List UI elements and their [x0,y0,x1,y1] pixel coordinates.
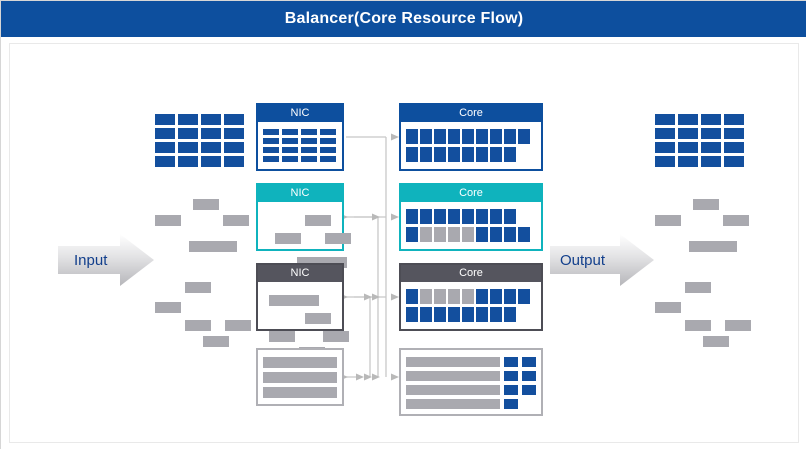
data-block [723,215,749,226]
core-block [406,307,418,322]
data-block [724,156,744,167]
core-block [476,289,488,304]
nic-box-content-1 [263,129,337,163]
output-label: Output [550,234,664,286]
core-block [504,289,516,304]
diagram-page: Balancer(Core Resource Flow) [0,0,806,449]
data-block [178,114,198,125]
core-block [522,371,536,381]
data-block [201,156,221,167]
data-block [724,128,744,139]
data-block [320,129,336,135]
core-block [490,147,502,162]
data-block [724,114,744,125]
nic-box-body-4 [258,354,342,402]
data-block [320,156,336,162]
output-arrow: Output [550,234,654,286]
core-block [406,129,418,144]
data-block [701,128,721,139]
core-block [462,129,474,144]
data-block [685,282,711,293]
title-bar: Balancer(Core Resource Flow) [1,1,806,37]
data-block [301,147,317,153]
data-block [320,138,336,144]
page-title: Balancer(Core Resource Flow) [1,1,806,37]
core-block [504,371,518,381]
nic-box-header-1: NIC [258,105,342,122]
core-box-header-1: Core [401,105,541,122]
data-block [155,142,175,153]
core-block [406,147,418,162]
data-block [282,138,298,144]
input-arrow: Input [58,234,154,286]
core-block [434,209,446,224]
core-box-content-2 [406,209,536,243]
core-block [490,307,502,322]
data-block [155,114,175,125]
core-block [420,289,432,304]
nic-box-1[interactable]: NIC [256,103,344,171]
output-stream-1 [655,114,745,170]
core-block [406,227,418,242]
core-block [434,227,446,242]
data-block [678,156,698,167]
data-block [225,320,251,331]
data-block [701,156,721,167]
core-block [434,307,446,322]
data-bar [406,357,500,367]
core-box-header-2: Core [401,185,541,202]
data-block [269,295,295,306]
core-block [476,129,488,144]
core-block [448,289,460,304]
data-block [155,302,181,313]
input-stream-1 [155,114,245,170]
data-block [655,156,675,167]
data-block [320,147,336,153]
data-block [193,199,219,210]
core-box-4[interactable] [399,348,543,416]
data-block [305,313,331,324]
core-block [518,129,530,144]
core-block [406,209,418,224]
data-block [263,138,279,144]
core-block [476,227,488,242]
output-stream-2 [655,199,751,251]
data-block [678,128,698,139]
data-block [678,142,698,153]
core-block [462,209,474,224]
data-block [224,114,244,125]
data-block [711,241,737,252]
data-bar [263,357,337,368]
data-bar [263,387,337,398]
data-block [655,128,675,139]
core-block [448,129,460,144]
data-block [263,129,279,135]
nic-box-2[interactable]: NIC [256,183,344,251]
data-block [703,336,729,347]
diagram-canvas: Multi Core CPU Input [1,37,806,449]
core-block [476,209,488,224]
output-stream-3 [655,274,751,330]
nic-box-4[interactable] [256,348,344,406]
core-block [504,209,516,224]
nic-box-3[interactable]: NIC [256,263,344,331]
data-block [155,215,181,226]
core-block [490,227,502,242]
core-box-body-1 [401,126,541,166]
core-block [420,307,432,322]
data-block [301,129,317,135]
core-box-body-4 [401,354,541,412]
data-block [301,138,317,144]
core-box-header-3: Core [401,265,541,282]
data-block [224,156,244,167]
core-block [462,227,474,242]
data-bar [263,372,337,383]
nic-box-header-2: NIC [258,185,342,202]
core-block [476,307,488,322]
data-block [301,156,317,162]
core-box-content-3 [406,289,536,323]
core-block [504,357,518,367]
data-block [655,142,675,153]
nic-box-body-3 [258,286,342,326]
core-block [504,399,518,409]
core-block [490,289,502,304]
core-block [448,307,460,322]
data-block [224,142,244,153]
data-block [211,241,237,252]
data-block [269,331,295,342]
data-block [275,233,301,244]
core-block [420,129,432,144]
core-block [448,209,460,224]
core-block [504,385,518,395]
core-block [504,307,516,322]
data-block [263,147,279,153]
data-block [305,215,331,226]
nic-box-content-2 [263,209,337,243]
data-block [655,114,675,125]
data-block [282,147,298,153]
core-block [434,147,446,162]
core-block [406,289,418,304]
data-block [223,215,249,226]
data-block [293,295,319,306]
core-block [490,209,502,224]
data-block [655,215,681,226]
input-stream-3 [155,274,251,330]
core-block [522,385,536,395]
input-label: Input [58,234,170,286]
data-block [282,129,298,135]
data-block [201,142,221,153]
core-box-content-1 [406,129,536,163]
data-bar [406,371,500,381]
core-block [420,147,432,162]
data-block [701,142,721,153]
nic-box-content-4 [263,357,337,399]
core-block [462,289,474,304]
data-block [655,302,681,313]
core-block [462,147,474,162]
nic-box-header-3: NIC [258,265,342,282]
data-block [178,156,198,167]
core-box-2[interactable]: Core [399,183,543,251]
data-block [185,320,211,331]
core-block [518,289,530,304]
core-block [504,147,516,162]
data-block [678,114,698,125]
nic-box-content-3 [263,289,337,323]
core-block [490,129,502,144]
core-block [462,307,474,322]
data-bar [406,385,500,395]
data-block [201,128,221,139]
nic-box-body-2 [258,206,342,246]
core-box-1[interactable]: Core [399,103,543,171]
core-block [434,129,446,144]
core-block [420,227,432,242]
data-block [725,320,751,331]
input-stream-2 [155,199,251,251]
data-block [325,233,351,244]
data-block [155,156,175,167]
core-box-3[interactable]: Core [399,263,543,331]
core-block [420,209,432,224]
nic-box-body-1 [258,126,342,166]
core-block [504,129,516,144]
core-block [518,227,530,242]
core-block [476,147,488,162]
core-block [434,289,446,304]
core-block [448,227,460,242]
data-block [685,320,711,331]
data-block [203,336,229,347]
data-block [282,156,298,162]
data-block [201,114,221,125]
data-block [155,128,175,139]
data-block [185,282,211,293]
data-block [693,199,719,210]
core-block [504,227,516,242]
data-block [323,331,349,342]
core-block [522,357,536,367]
data-block [178,142,198,153]
data-block [701,114,721,125]
data-block [178,128,198,139]
data-block [724,142,744,153]
data-bar [406,399,500,409]
data-block [224,128,244,139]
core-box-body-3 [401,286,541,326]
data-block [263,156,279,162]
core-box-body-2 [401,206,541,246]
diagram-frame: Multi Core CPU Input [9,43,799,443]
core-block [448,147,460,162]
core-box-content-4 [406,357,536,409]
